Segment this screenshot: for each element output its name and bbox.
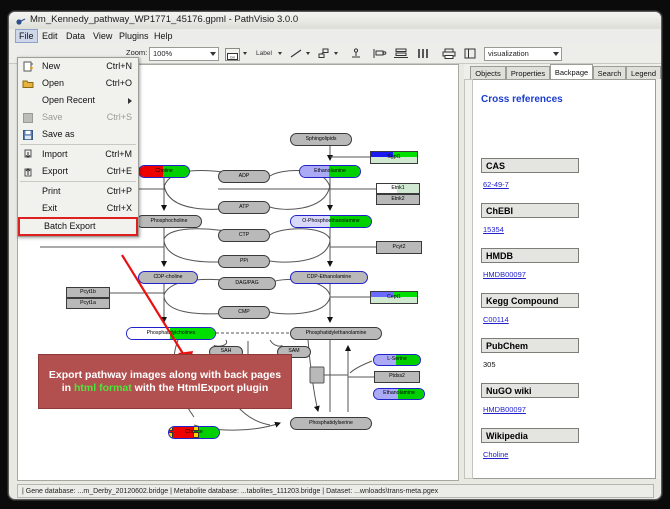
- status-text: | Gene database: ...m_Derby_20120602.bri…: [22, 488, 438, 495]
- chevron-down-icon: [243, 52, 247, 55]
- menu-separator: [20, 181, 136, 182]
- menu-edit[interactable]: Edit: [39, 30, 61, 42]
- zoom-combo[interactable]: 100%: [149, 47, 219, 61]
- menu-help[interactable]: Help: [151, 30, 176, 42]
- menu-bar: File Edit Data View Plugins Help: [9, 29, 661, 44]
- chevron-down-icon: [334, 52, 338, 55]
- zoom-value: 100%: [153, 49, 172, 58]
- xref-value-wikipedia[interactable]: Choline: [483, 450, 508, 459]
- menu-item-save-as[interactable]: Save as: [18, 126, 138, 143]
- svg-text:Gn: Gn: [230, 55, 235, 60]
- menu-file[interactable]: File: [15, 29, 38, 43]
- menu-item-label: Open: [42, 78, 64, 88]
- chevron-down-icon: [306, 52, 310, 55]
- menu-item-label: Export: [42, 166, 68, 176]
- pathvisio-icon: [15, 15, 26, 26]
- xref-value-pubchem: 305: [483, 360, 496, 369]
- menu-item-label: New: [42, 61, 60, 71]
- new-document-icon: [22, 60, 34, 72]
- menu-plugins[interactable]: Plugins: [116, 30, 152, 42]
- zoom-label: Zoom:: [126, 48, 147, 57]
- menu-data[interactable]: Data: [63, 30, 88, 42]
- menu-item-exit[interactable]: Exit Ctrl+X: [18, 200, 138, 217]
- cross-references-heading: Cross references: [481, 94, 563, 105]
- line-dropdown[interactable]: [303, 47, 311, 60]
- menu-item-label: Open Recent: [42, 95, 95, 105]
- xref-value-chebi[interactable]: 15354: [483, 225, 504, 234]
- xref-header-nugo-wiki: NuGO wiki: [481, 383, 579, 398]
- xref-value-cas[interactable]: 62-49-7: [483, 180, 509, 189]
- backpage-content: Cross references CAS 62-49-7 ChEBI 15354…: [470, 79, 656, 479]
- xref-header-pubchem: PubChem: [481, 338, 579, 353]
- distribute-icon[interactable]: [393, 47, 409, 60]
- tab-backpage[interactable]: Backpage: [550, 64, 593, 79]
- label-button[interactable]: Label: [253, 47, 275, 60]
- file-menu-popup[interactable]: New Ctrl+N Open Ctrl+O Open Recent Save …: [17, 57, 139, 237]
- save-as-icon: [22, 128, 34, 140]
- align-icon[interactable]: [371, 47, 387, 60]
- menu-item-label: Save as: [42, 129, 75, 139]
- stack-icon[interactable]: [415, 47, 431, 60]
- datanode-dropdown[interactable]: [240, 47, 248, 60]
- menu-view[interactable]: View: [90, 30, 115, 42]
- menu-item-accel: Ctrl+O: [106, 78, 132, 88]
- xref-header-kegg-compound: Kegg Compound: [481, 293, 579, 308]
- menu-item-open[interactable]: Open Ctrl+O: [18, 75, 138, 92]
- menu-item-label: Print: [42, 186, 61, 196]
- menu-item-accel: Ctrl+P: [107, 186, 132, 196]
- backpage-toggle-icon[interactable]: [463, 47, 477, 60]
- xref-header-hmdb: HMDB: [481, 248, 579, 263]
- interaction-dropdown[interactable]: [331, 47, 339, 60]
- xref-header-chebi: ChEBI: [481, 203, 579, 218]
- submenu-arrow-icon: [128, 98, 132, 104]
- menu-item-accel: Ctrl+M: [105, 149, 132, 159]
- side-panel-scrollbar[interactable]: [464, 79, 473, 479]
- xref-value-kegg-compound[interactable]: C00114: [483, 315, 509, 324]
- tab-objects[interactable]: Objects: [470, 66, 506, 79]
- visualization-combo[interactable]: visualization: [484, 47, 562, 61]
- datanode-icon[interactable]: Gn: [225, 48, 240, 61]
- anchor-icon[interactable]: [349, 47, 363, 60]
- menu-item-batch-export[interactable]: Batch Export: [18, 217, 138, 236]
- menu-item-label: Save: [42, 112, 63, 122]
- menu-item-label: Import: [42, 149, 68, 159]
- export-icon: [22, 165, 34, 177]
- visualization-value: visualization: [488, 49, 529, 58]
- screenshot-root: Mm_Kennedy_pathway_WP1771_45176.gpml - P…: [0, 0, 670, 509]
- menu-item-import[interactable]: Import Ctrl+M: [18, 146, 138, 163]
- menu-item-accel: Ctrl+X: [107, 203, 132, 213]
- menu-item-label: Exit: [42, 203, 57, 213]
- chevron-down-icon: [278, 52, 282, 55]
- import-icon: [22, 148, 34, 160]
- line-tool-icon[interactable]: [289, 47, 303, 60]
- title-bar: Mm_Kennedy_pathway_WP1771_45176.gpml - P…: [9, 12, 661, 30]
- menu-item-accel: Ctrl+S: [107, 112, 132, 122]
- status-bar: | Gene database: ...m_Derby_20120602.bri…: [17, 484, 654, 498]
- tab-properties[interactable]: Properties: [506, 66, 550, 79]
- xref-header-cas: CAS: [481, 158, 579, 173]
- xref-header-wikipedia: Wikipedia: [481, 428, 579, 443]
- chevron-down-icon: [210, 52, 216, 56]
- menu-item-print[interactable]: Print Ctrl+P: [18, 183, 138, 200]
- menu-item-accel: Ctrl+N: [106, 61, 132, 71]
- window-title: Mm_Kennedy_pathway_WP1771_45176.gpml - P…: [30, 14, 298, 25]
- menu-item-open-recent[interactable]: Open Recent: [18, 92, 138, 109]
- menu-item-save: Save Ctrl+S: [18, 109, 138, 126]
- menu-item-accel: Ctrl+E: [107, 166, 132, 176]
- side-panel: Objects Properties Backpage Search Legen…: [464, 64, 661, 479]
- xref-value-hmdb[interactable]: HMDB00097: [483, 270, 526, 279]
- tab-legend[interactable]: Legend: [626, 66, 661, 79]
- chevron-down-icon: [553, 52, 559, 56]
- menu-separator: [20, 144, 136, 145]
- menu-item-label: Batch Export: [44, 221, 96, 231]
- application-window: Mm_Kennedy_pathway_WP1771_45176.gpml - P…: [8, 11, 662, 500]
- menu-item-new[interactable]: New Ctrl+N: [18, 58, 138, 75]
- open-folder-icon: [22, 77, 34, 89]
- save-disk-icon: [22, 111, 34, 123]
- callout-text-2: with the HtmlExport plugin: [132, 382, 269, 394]
- interaction-tool-icon[interactable]: [317, 47, 331, 60]
- annotation-callout: Export pathway images along with back pa…: [38, 354, 292, 409]
- side-panel-tabs: Objects Properties Backpage Search Legen…: [470, 64, 661, 79]
- xref-value-nugo-wiki[interactable]: HMDB00097: [483, 405, 526, 414]
- print-icon[interactable]: [441, 47, 457, 60]
- tab-search[interactable]: Search: [593, 66, 626, 79]
- label-dropdown[interactable]: [275, 47, 283, 60]
- callout-highlight: html format: [74, 382, 132, 394]
- menu-item-export[interactable]: Export Ctrl+E: [18, 163, 138, 180]
